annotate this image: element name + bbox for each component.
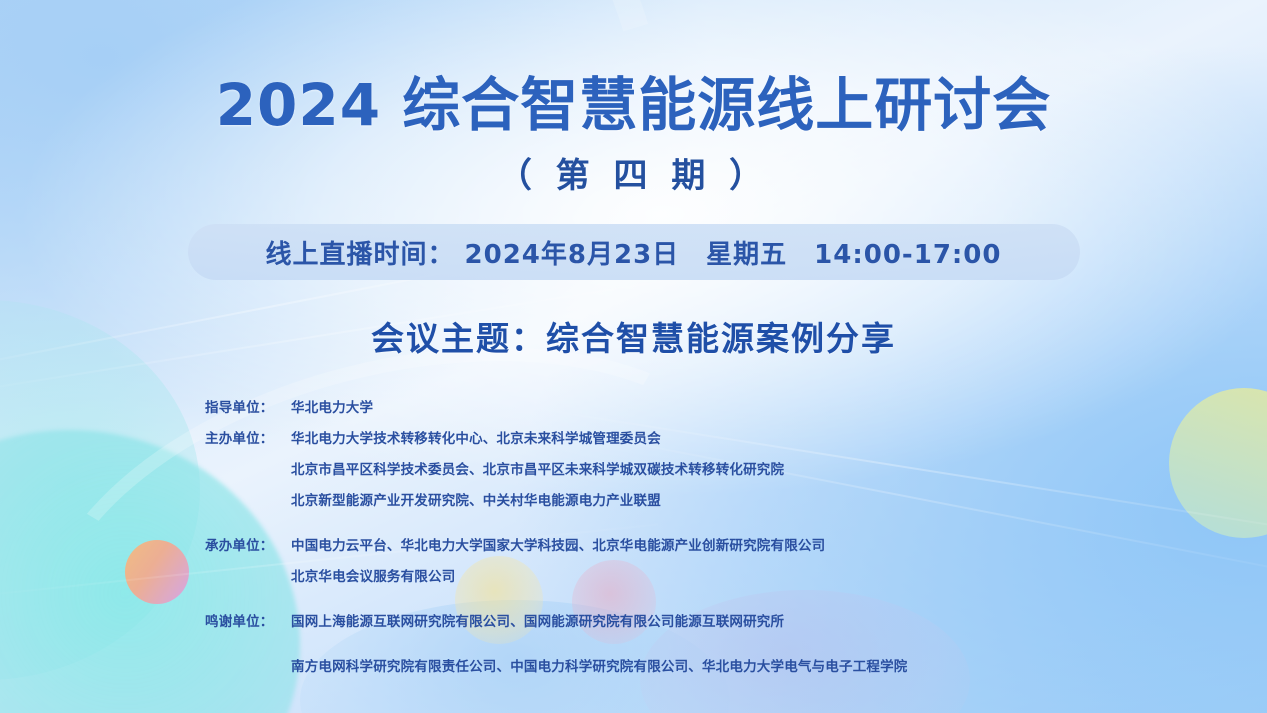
organization-row: 北京市昌平区科学技术委员会、北京市昌平区未来科学城双碳技术转移转化研究院 — [205, 458, 1125, 489]
conference-theme: 会议主题：综合智慧能源案例分享 — [0, 312, 1267, 360]
organization-value: 北京新型能源产业开发研究院、中关村华电能源电力产业联盟 — [291, 489, 661, 509]
organization-label: 指导单位： — [205, 396, 291, 416]
organization-row: 主办单位：华北电力大学技术转移转化中心、北京未来科学城管理委员会 — [205, 427, 1125, 458]
organization-label: 鸣谢单位： — [205, 610, 291, 630]
page-title: 2024 综合智慧能源线上研讨会 — [0, 58, 1267, 142]
poster-content: 2024 综合智慧能源线上研讨会 （ 第 四 期 ） 线上直播时间： 2024年… — [0, 0, 1267, 713]
livestream-time-banner: 线上直播时间： 2024年8月23日 星期五 14:00-17:00 — [188, 224, 1080, 280]
organization-label: 承办单位： — [205, 534, 291, 554]
organization-value: 华北电力大学技术转移转化中心、北京未来科学城管理委员会 — [291, 427, 661, 447]
organization-row: 北京新型能源产业开发研究院、中关村华电能源电力产业联盟 — [205, 489, 1125, 520]
organization-value: 北京市昌平区科学技术委员会、北京市昌平区未来科学城双碳技术转移转化研究院 — [291, 458, 784, 478]
organization-row: 鸣谢单位：国网上海能源互联网研究院有限公司、国网能源研究院有限公司能源互联网研究… — [205, 610, 1125, 641]
conference-poster: 2024 综合智慧能源线上研讨会 （ 第 四 期 ） 线上直播时间： 2024年… — [0, 0, 1267, 713]
organization-label: 主办单位： — [205, 427, 291, 447]
organization-row: 北京华电会议服务有限公司 — [205, 565, 1125, 596]
organization-value: 国网上海能源互联网研究院有限公司、国网能源研究院有限公司能源互联网研究所 — [291, 610, 784, 630]
organization-row: 指导单位：华北电力大学 — [205, 396, 1125, 427]
organizations-list: 指导单位：华北电力大学主办单位：华北电力大学技术转移转化中心、北京未来科学城管理… — [205, 396, 1125, 686]
organization-value: 北京华电会议服务有限公司 — [291, 565, 455, 585]
organization-value: 中国电力云平台、华北电力大学国家大学科技园、北京华电能源产业创新研究院有限公司 — [291, 534, 825, 554]
livestream-time-text: 线上直播时间： 2024年8月23日 星期五 14:00-17:00 — [265, 234, 1001, 271]
organization-value: 华北电力大学 — [291, 396, 373, 416]
organization-row: 南方电网科学研究院有限责任公司、中国电力科学研究院有限公司、华北电力大学电气与电… — [205, 655, 1125, 686]
organization-row: 承办单位：中国电力云平台、华北电力大学国家大学科技园、北京华电能源产业创新研究院… — [205, 534, 1125, 565]
organization-value: 南方电网科学研究院有限责任公司、中国电力科学研究院有限公司、华北电力大学电气与电… — [291, 655, 908, 675]
edition-subtitle: （ 第 四 期 ） — [0, 148, 1267, 197]
